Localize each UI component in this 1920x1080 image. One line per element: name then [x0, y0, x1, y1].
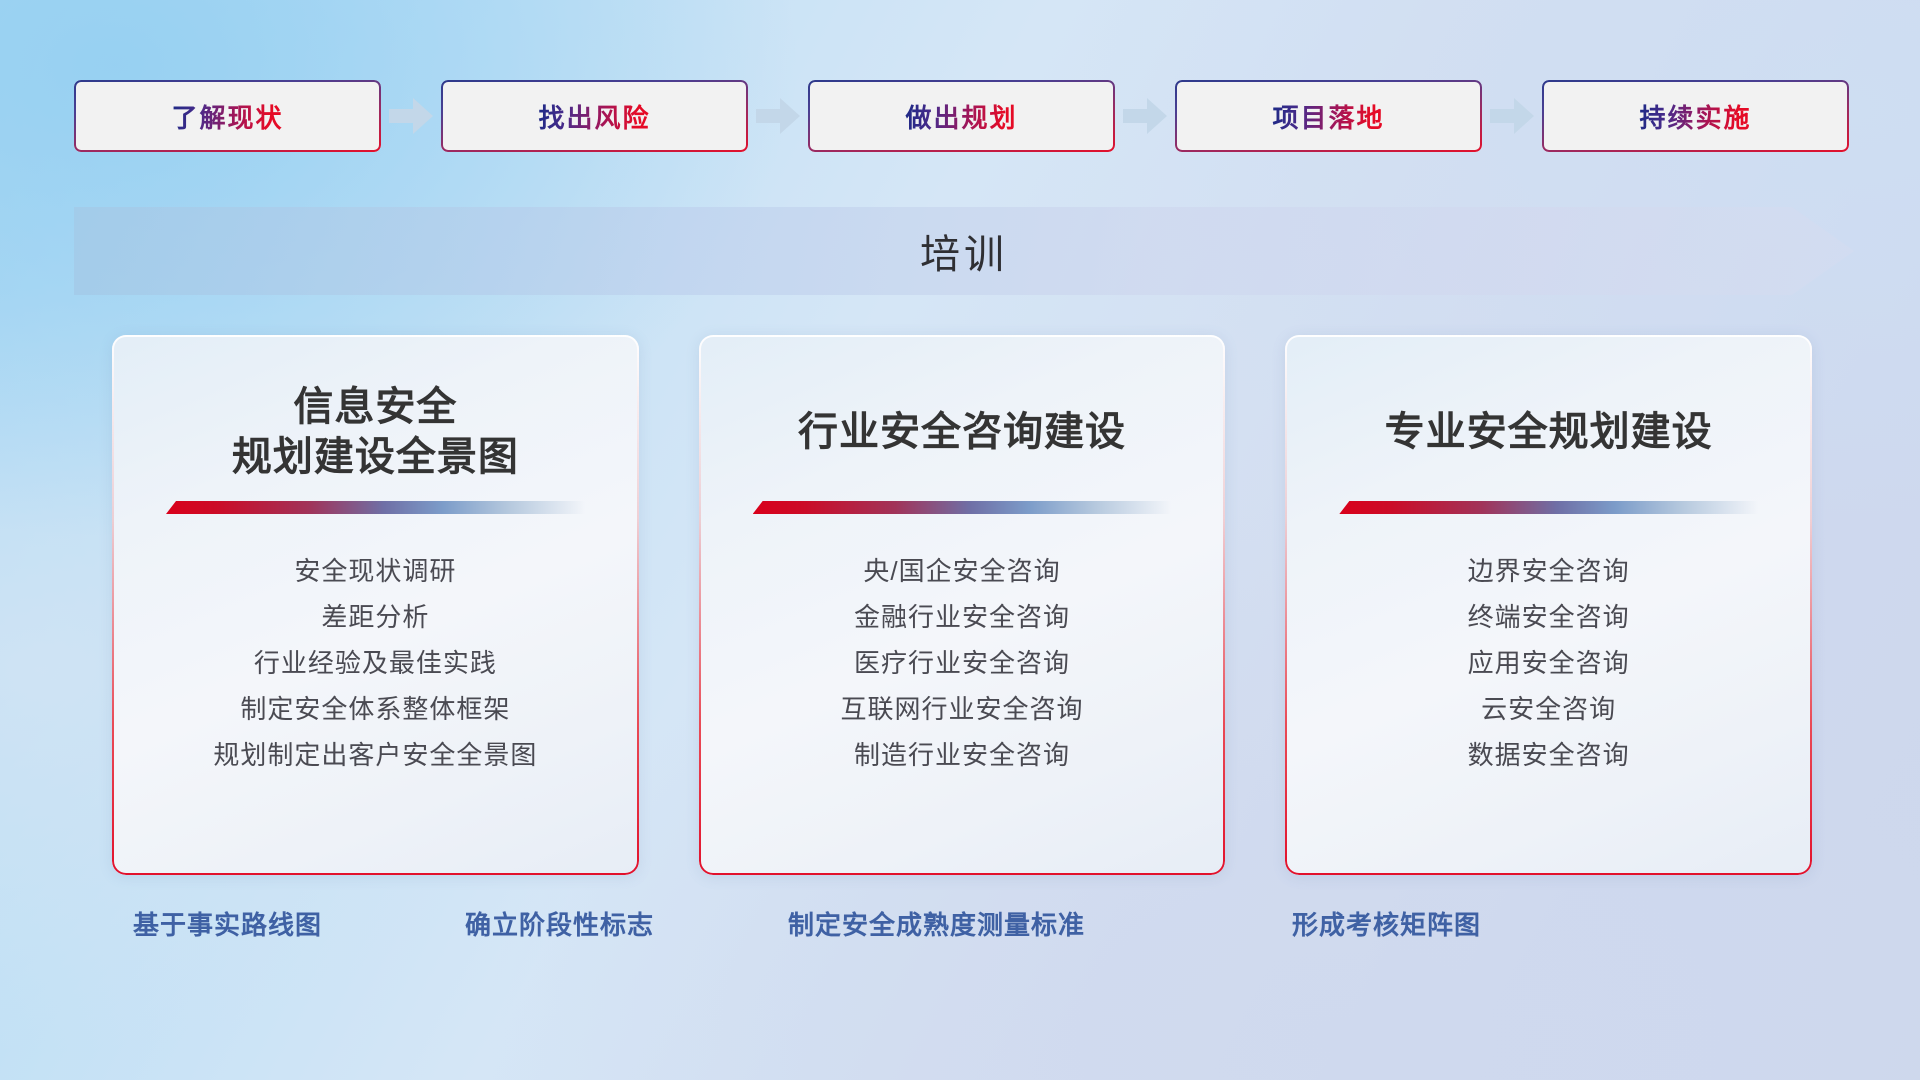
- card-divider: [166, 501, 585, 514]
- arrow-right-icon: [1482, 80, 1542, 152]
- footnote-0: 基于事实路线图: [133, 905, 322, 942]
- footnote-row: 基于事实路线图 确立阶段性标志 制定安全成熟度测量标准 形成考核矩阵图: [0, 905, 1920, 969]
- process-step-label: 项目落地: [1272, 98, 1384, 135]
- footnote-2: 制定安全成熟度测量标准: [788, 905, 1085, 942]
- footnote-1: 确立阶段性标志: [465, 905, 654, 942]
- process-step-label: 持续实施: [1639, 98, 1751, 135]
- card-title-line: 专业安全规划建设: [1385, 408, 1713, 458]
- list-item: 差距分析: [140, 594, 611, 640]
- process-step-2[interactable]: 做出规划: [808, 80, 1115, 152]
- card-title: 信息安全 规划建设全景图: [232, 383, 519, 483]
- list-item: 央/国企安全咨询: [727, 548, 1198, 594]
- card-title: 专业安全规划建设: [1385, 383, 1713, 483]
- process-step-0[interactable]: 了解现状: [74, 80, 381, 152]
- list-item: 云安全咨询: [1313, 686, 1784, 732]
- arrow-right-icon: [1115, 80, 1175, 152]
- list-item: 金融行业安全咨询: [727, 594, 1198, 640]
- list-item: 终端安全咨询: [1313, 594, 1784, 640]
- card-list: 边界安全咨询 终端安全咨询 应用安全咨询 云安全咨询 数据安全咨询: [1313, 548, 1784, 778]
- list-item: 边界安全咨询: [1313, 548, 1784, 594]
- list-item: 互联网行业安全咨询: [727, 686, 1198, 732]
- footnote-3: 形成考核矩阵图: [1292, 905, 1481, 942]
- card-list: 安全现状调研 差距分析 行业经验及最佳实践 制定安全体系整体框架 规划制定出客户…: [140, 548, 611, 778]
- process-step-1[interactable]: 找出风险: [441, 80, 748, 152]
- arrow-right-icon: [748, 80, 808, 152]
- card-title: 行业安全咨询建设: [798, 383, 1126, 483]
- list-item: 制定安全体系整体框架: [140, 686, 611, 732]
- process-step-label: 了解现状: [171, 98, 283, 135]
- process-step-label: 找出风险: [538, 98, 650, 135]
- card-title-line: 行业安全咨询建设: [798, 408, 1126, 458]
- list-item: 数据安全咨询: [1313, 732, 1784, 778]
- card-title-line: 规划建设全景图: [232, 433, 519, 483]
- list-item: 行业经验及最佳实践: [140, 640, 611, 686]
- list-item: 应用安全咨询: [1313, 640, 1784, 686]
- card-information-security[interactable]: 信息安全 规划建设全景图 安全现状调研 差距分析 行业经验及最佳实践 制定安全体…: [112, 335, 639, 875]
- list-item: 制造行业安全咨询: [727, 732, 1198, 778]
- slide-canvas: 了解现状 找出风险 做出规划 项目落地: [0, 0, 1920, 1080]
- process-step-3[interactable]: 项目落地: [1175, 80, 1482, 152]
- list-item: 规划制定出客户安全全景图: [140, 732, 611, 778]
- card-divider: [1339, 501, 1758, 514]
- card-professional-planning[interactable]: 专业安全规划建设 边界安全咨询 终端安全咨询 应用安全咨询 云安全咨询 数据安全…: [1285, 335, 1812, 875]
- list-item: 医疗行业安全咨询: [727, 640, 1198, 686]
- card-row: 信息安全 规划建设全景图 安全现状调研 差距分析 行业经验及最佳实践 制定安全体…: [112, 335, 1812, 875]
- process-step-4[interactable]: 持续实施: [1542, 80, 1849, 152]
- training-banner: 培训: [74, 207, 1854, 295]
- card-industry-consulting[interactable]: 行业安全咨询建设 央/国企安全咨询 金融行业安全咨询 医疗行业安全咨询 互联网行…: [699, 335, 1226, 875]
- card-title-line: 信息安全: [232, 383, 519, 433]
- banner-title: 培训: [920, 222, 1008, 280]
- arrow-right-icon: [381, 80, 441, 152]
- card-divider: [753, 501, 1172, 514]
- list-item: 安全现状调研: [140, 548, 611, 594]
- process-step-label: 做出规划: [905, 98, 1017, 135]
- card-list: 央/国企安全咨询 金融行业安全咨询 医疗行业安全咨询 互联网行业安全咨询 制造行…: [727, 548, 1198, 778]
- process-step-row: 了解现状 找出风险 做出规划 项目落地: [74, 80, 1854, 152]
